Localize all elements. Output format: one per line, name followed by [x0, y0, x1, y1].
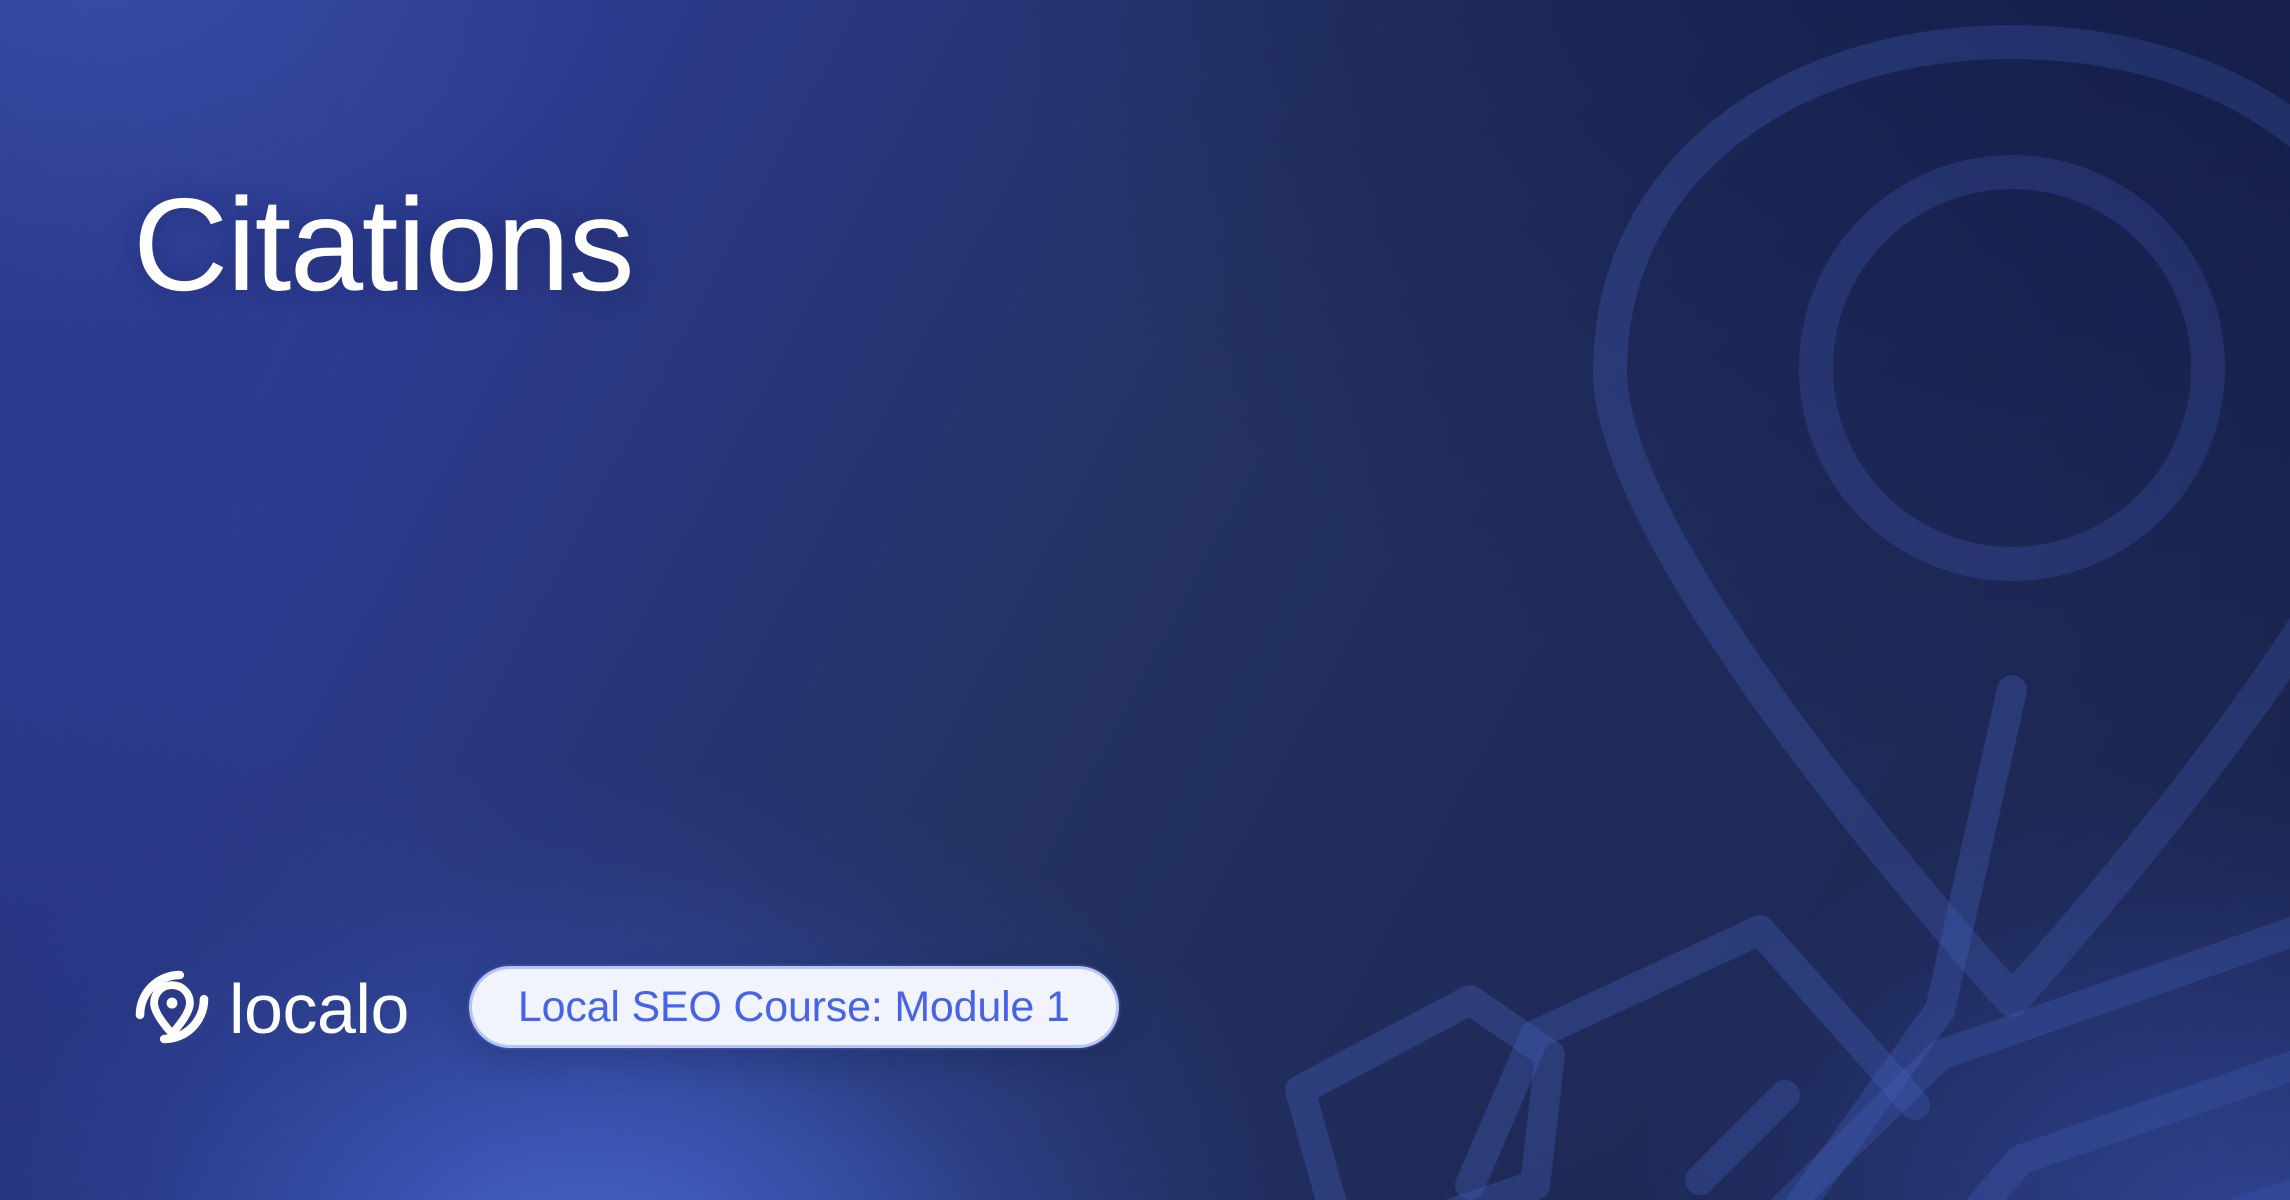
- location-pin-in-broken-circle-icon: [133, 968, 211, 1046]
- brand-logo: localo: [133, 968, 409, 1046]
- page-title: Citations: [133, 178, 633, 313]
- slide-root: Citations localo Local SEO Course: Modul…: [0, 0, 2290, 1200]
- course-module-badge: Local SEO Course: Module 1: [469, 966, 1119, 1048]
- footer-row: localo Local SEO Course: Module 1: [133, 966, 1119, 1048]
- course-module-badge-label: Local SEO Course: Module 1: [518, 986, 1070, 1029]
- brand-wordmark: localo: [229, 974, 409, 1044]
